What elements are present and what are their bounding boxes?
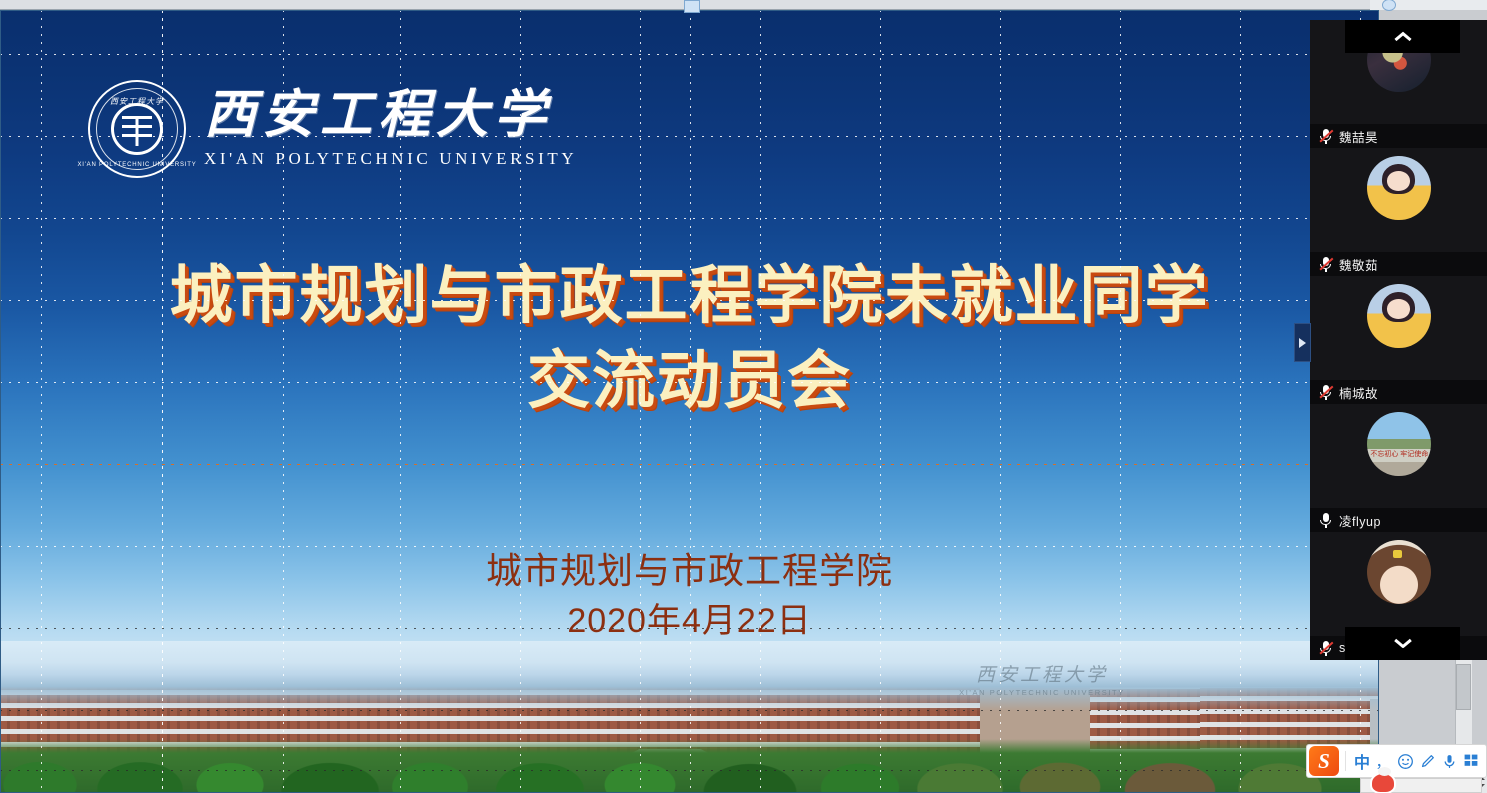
participants-scroll-up-button[interactable] bbox=[1345, 20, 1460, 53]
avatar bbox=[1367, 284, 1431, 348]
chevron-down-icon bbox=[1394, 639, 1412, 649]
participant-name-bar: 魏敬茹 bbox=[1310, 252, 1487, 276]
participant-tile[interactable]: 魏敬茹 bbox=[1310, 148, 1487, 276]
chevron-up-icon bbox=[1394, 32, 1412, 42]
mic-muted-icon bbox=[1319, 640, 1332, 656]
vertical-scrollbar-thumb[interactable] bbox=[1456, 664, 1471, 710]
participant-name: 凌flyup bbox=[1339, 511, 1381, 530]
grid-apps-icon[interactable] bbox=[1460, 750, 1482, 772]
subtitle-date: 2020年4月22日 bbox=[0, 597, 1379, 646]
ime-language-mode-button[interactable]: 中 bbox=[1352, 750, 1372, 772]
participant-tile[interactable]: 凌flyup bbox=[1310, 404, 1487, 532]
chevron-right-icon bbox=[1299, 338, 1306, 348]
title-line-2: 交流动员会 bbox=[0, 338, 1379, 423]
subtitle-organization: 城市规划与市政工程学院 bbox=[0, 545, 1379, 597]
participant-name: 魏敬茹 bbox=[1339, 255, 1378, 274]
participant-name: 魏喆昊 bbox=[1339, 127, 1378, 146]
seal-bottom-text: XI'AN POLYTECHNIC UNIVERSITY bbox=[77, 162, 196, 168]
slide-resize-handle[interactable] bbox=[684, 0, 700, 13]
mic-muted-icon bbox=[1319, 256, 1332, 272]
participant-name-bar: 魏喆昊 bbox=[1310, 124, 1487, 148]
microphone-icon[interactable] bbox=[1438, 750, 1460, 772]
university-name-cn: 西安工程大学 bbox=[204, 89, 577, 144]
university-name-block: 西安工程大学 XI'AN POLYTECHNIC UNIVERSITY bbox=[204, 89, 577, 170]
title-line-1: 城市规划与市政工程学院未就业同学 bbox=[0, 253, 1379, 338]
campus-photo bbox=[0, 641, 1379, 793]
avatar bbox=[1367, 412, 1431, 476]
participant-name-bar: 凌flyup bbox=[1310, 508, 1487, 532]
seal-top-text: 西安工程大学 bbox=[110, 96, 164, 107]
smiley-icon[interactable] bbox=[1394, 750, 1416, 772]
participant-name-bar: 楠城故 bbox=[1310, 380, 1487, 404]
presentation-slide: 西安工程大学 XI'AN POLYTECHNIC UNIVERSITY 西安工程… bbox=[0, 10, 1379, 793]
sogou-ime-toolbar[interactable]: S 中 ， bbox=[1306, 744, 1487, 778]
participants-scroll-down-button[interactable] bbox=[1345, 627, 1460, 660]
ime-decoration-icon bbox=[1370, 772, 1396, 793]
pencil-icon[interactable] bbox=[1416, 750, 1438, 772]
avatar bbox=[1367, 156, 1431, 220]
mic-muted-icon bbox=[1319, 384, 1332, 400]
video-participants-panel[interactable]: 魏喆昊 魏敬茹 楠城故 bbox=[1310, 20, 1487, 660]
university-seal-icon: 西安工程大学 XI'AN POLYTECHNIC UNIVERSITY bbox=[88, 80, 186, 178]
seal-emblem-icon bbox=[111, 103, 163, 155]
slide-title: 城市规划与市政工程学院未就业同学 交流动员会 bbox=[0, 253, 1379, 423]
screen: 西安工程大学 XI'AN POLYTECHNIC UNIVERSITY 西安工程… bbox=[0, 0, 1487, 793]
avatar bbox=[1367, 540, 1431, 604]
top-edit-strip[interactable] bbox=[0, 0, 1487, 10]
ime-divider bbox=[1345, 751, 1346, 771]
mic-on-icon bbox=[1319, 512, 1332, 528]
university-logo: 西安工程大学 XI'AN POLYTECHNIC UNIVERSITY 西安工程… bbox=[88, 80, 577, 178]
panel-collapse-toggle[interactable] bbox=[1294, 323, 1311, 362]
university-name-en: XI'AN POLYTECHNIC UNIVERSITY bbox=[204, 149, 577, 169]
slide-subtitle: 城市规划与市政工程学院 2020年4月22日 bbox=[0, 545, 1379, 646]
mic-muted-icon bbox=[1319, 128, 1332, 144]
participant-name: 楠城故 bbox=[1339, 383, 1378, 402]
participant-tile[interactable]: 楠城故 bbox=[1310, 276, 1487, 404]
sogou-logo-icon[interactable]: S bbox=[1309, 746, 1339, 776]
